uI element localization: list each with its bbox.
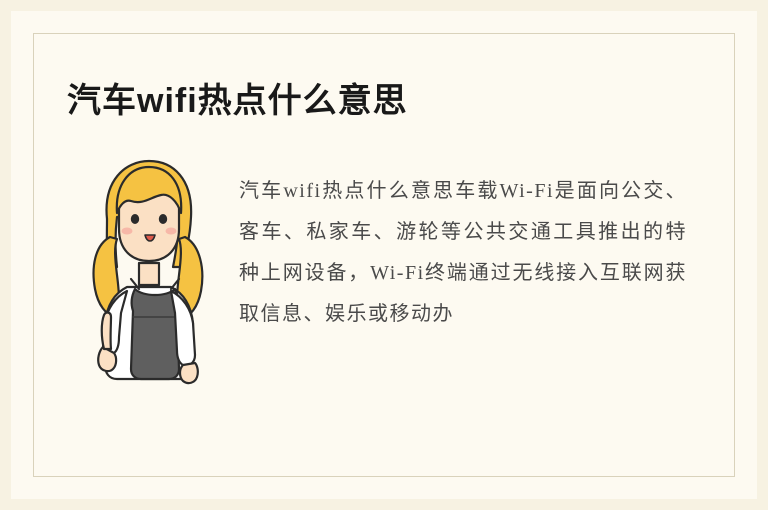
cartoon-woman-pointing-up-icon [73, 151, 223, 401]
page-title: 汽车wifi热点什么意思 [67, 73, 408, 122]
article-card: 汽车wifi热点什么意思 [0, 0, 768, 510]
article-body: 汽车wifi热点什么意思车载Wi-Fi是面向公交、客车、私家车、游轮等公共交通工… [239, 171, 687, 335]
